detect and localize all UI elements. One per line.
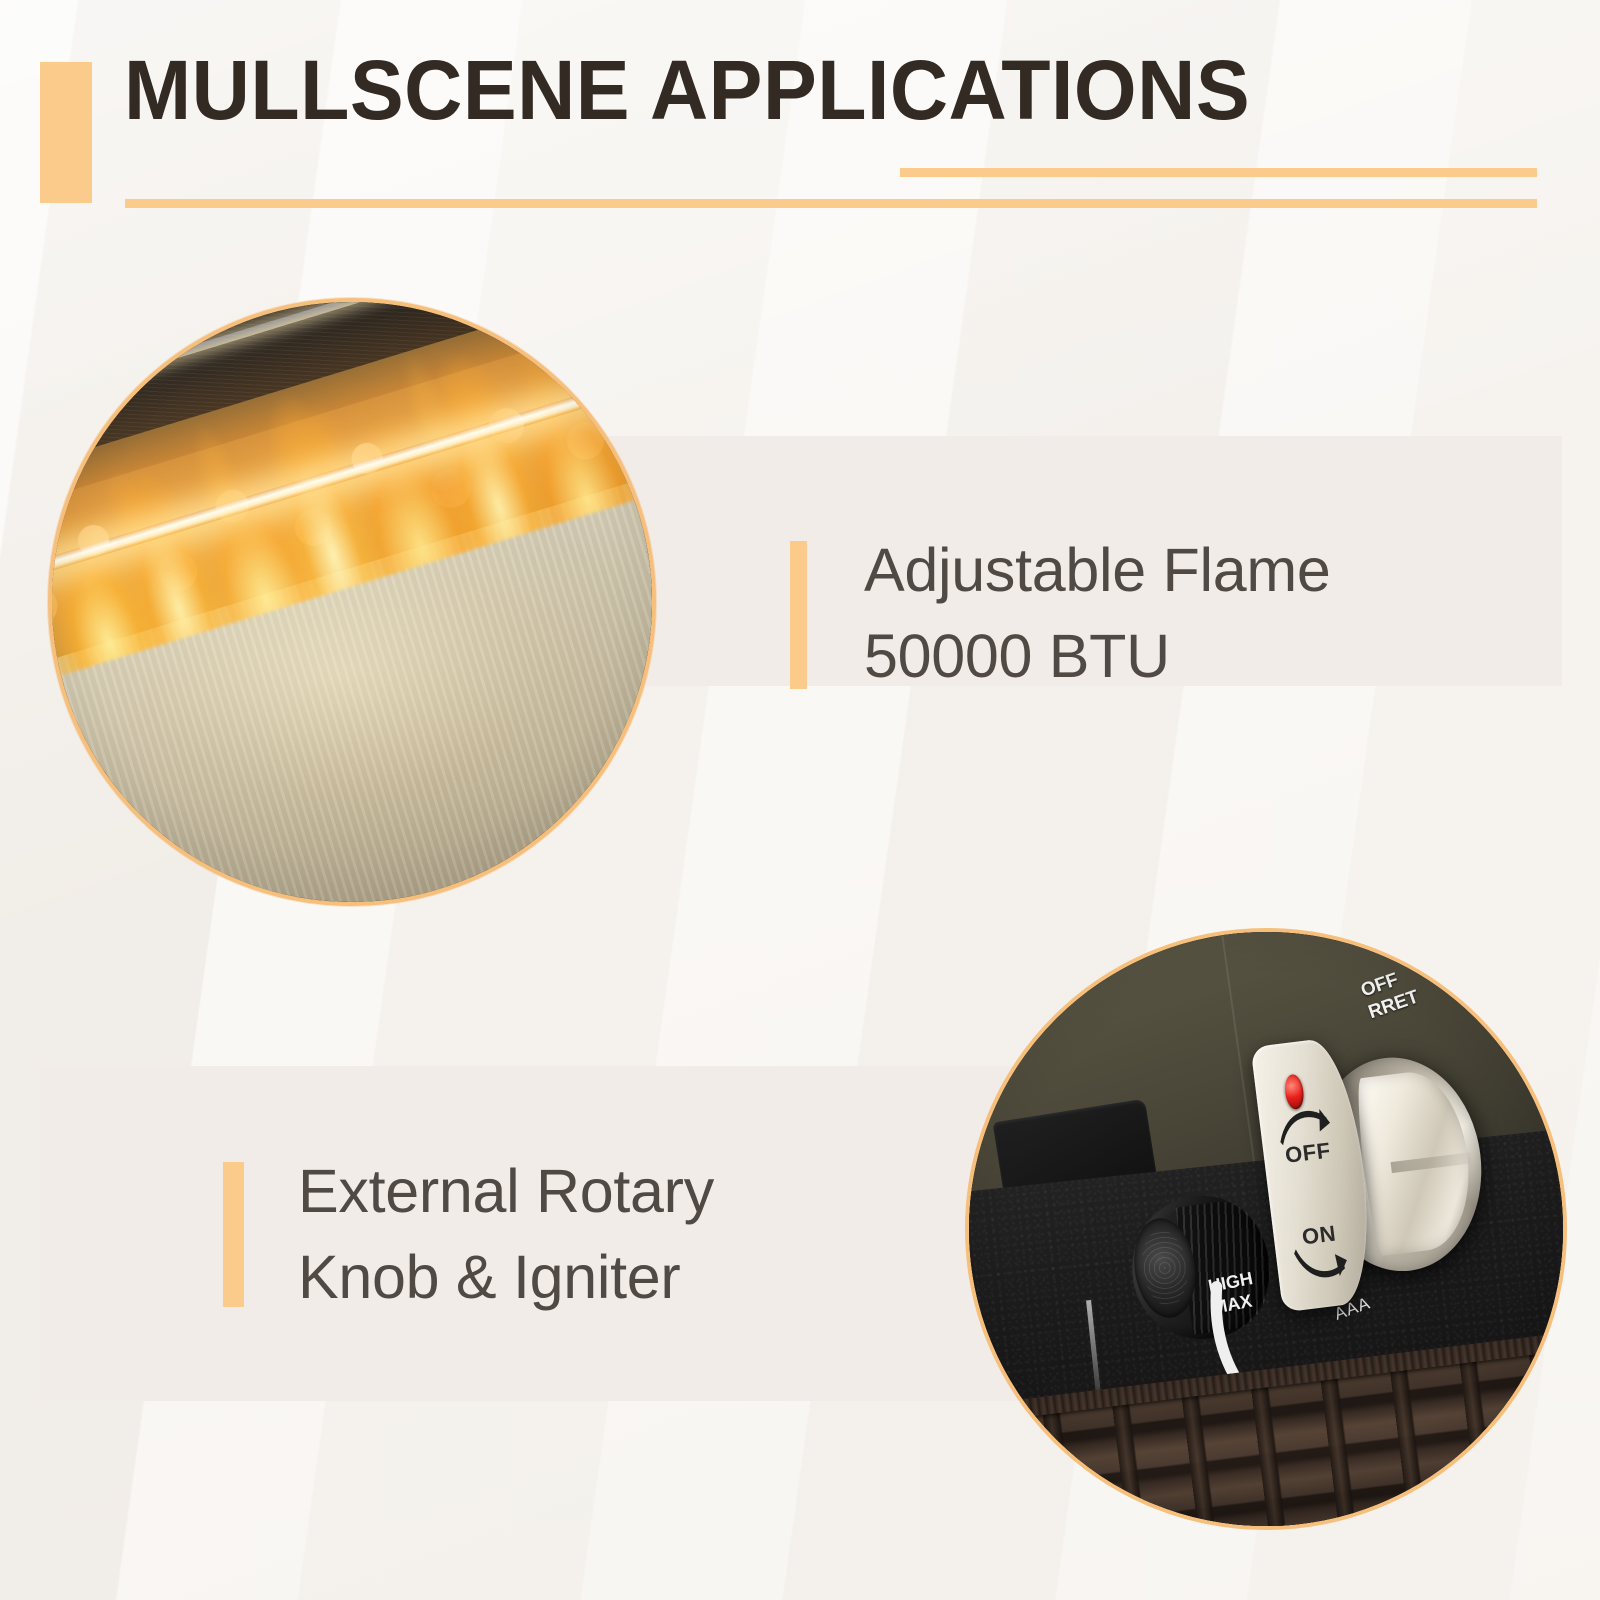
flame-photo-vignette [52, 302, 652, 902]
infographic-page: MULLSCENE APPLICATIONS Adjustable Flame … [0, 0, 1600, 1600]
control-panel-photo-vignette [969, 932, 1563, 1526]
flame-photo-circle [48, 298, 656, 906]
page-title: MULLSCENE APPLICATIONS [124, 42, 1250, 139]
control-panel-scene: + − AAA Electronic Ignition Allumage ele… [969, 932, 1563, 1526]
feature-accent-bar-rotary-knob [223, 1162, 244, 1307]
feature-label-rotary-knob: External Rotary Knob & Igniter [298, 1148, 714, 1320]
header-rule-lower [125, 199, 1537, 208]
header-accent-bar [40, 62, 92, 203]
control-panel-photo-circle: + − AAA Electronic Ignition Allumage ele… [965, 928, 1567, 1530]
flame-scene [52, 302, 652, 902]
feature-label-adjustable-flame: Adjustable Flame 50000 BTU [864, 527, 1331, 699]
header-rule-upper [900, 168, 1537, 177]
feature-accent-bar-adjustable-flame [790, 541, 807, 689]
